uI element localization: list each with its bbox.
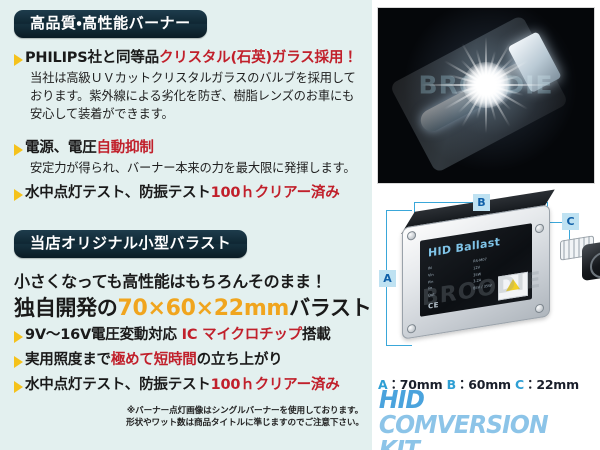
bullet-water-test-burner-heading: 水中点灯テスト、防振テスト100ｈクリアー済み — [25, 185, 340, 202]
bullet-fast-startup: 実用照度まで極めて短時間の立ち上がり — [14, 352, 282, 369]
ballast-dimension-highlight: 70×60×22mm — [118, 296, 290, 321]
section-badge-ballast: 当店オリジナル小型バラスト — [14, 230, 247, 258]
ballast-lead-line-2: 独自開発の70×60×22mmバラスト — [14, 292, 371, 322]
ballast-screw — [407, 231, 416, 241]
disclaimer-line-1: ※バーナー点灯画像はシングルバーナーを使用しております。 — [120, 405, 370, 417]
bullet-text-highlight: IC マイクロチップ — [182, 327, 302, 343]
bullet-water-test-ballast-heading: 水中点灯テスト、防振テスト100ｈクリアー済み — [25, 377, 340, 394]
bullet-philips-glass-body-line-2: おります。紫外線による劣化を防ぎ、樹脂レンズのお車にも — [30, 88, 354, 106]
ballast-screw — [407, 324, 416, 334]
dim-line-a-top — [386, 210, 412, 211]
section-badge-ballast-label: 当店オリジナル小型バラスト — [14, 230, 247, 258]
footer-banner-text: HID COMVERSION KIT — [379, 387, 593, 450]
ballast-lead-post: バラスト — [289, 296, 371, 320]
ballast-screw — [535, 303, 544, 313]
burner-product-photo: BROODIE — [378, 8, 594, 183]
bullet-text-highlight: クリスタル(石英)ガラス採用！ — [159, 50, 357, 66]
bullet-philips-glass-body-line-1: 当社は高級ＵＶカットクリスタルガラスのバルブを採用して — [30, 70, 356, 88]
bullet-voltage-control: 電源、電圧自動抑制 — [14, 140, 154, 157]
section-badge-burner-label: 高品質・高性能バーナー — [14, 10, 207, 38]
footer-product-type: COMVERSION KIT — [379, 410, 548, 450]
disclaimer-line-2: 形状やワット数は商品タイトルに準じますのでご注意下さい。 — [120, 417, 370, 429]
bullet-fast-startup-heading: 実用照度まで極めて短時間の立ち上がり — [25, 352, 282, 369]
arrow-bullet-icon — [14, 331, 23, 343]
bullet-text-pre: 水中点灯テスト、防振テスト — [25, 185, 211, 201]
ballast-device-graphic: HID Ballast INRS-M07 Vin12V Pin35W Iin3.… — [402, 204, 550, 345]
bullet-philips-glass-heading: PHILIPS社と同等品クリスタル(石英)ガラス採用！ — [25, 50, 357, 67]
ballast-dimension-diagram: HID Ballast INRS-M07 Vin12V Pin35W Iin3.… — [378, 196, 594, 368]
dim-marker-c: C — [562, 213, 579, 230]
ballast-connector — [560, 230, 600, 291]
bullet-ic-microchip: 9V〜16V電圧変動対応 IC マイクロチップ搭載 — [14, 327, 331, 344]
dim-line-a-bottom — [386, 345, 412, 346]
bullet-water-test-burner: 水中点灯テスト、防振テスト100ｈクリアー済み — [14, 185, 340, 202]
arrow-bullet-icon — [14, 381, 23, 393]
arrow-bullet-icon — [14, 189, 23, 201]
ballast-lead-pre: 独自開発の — [14, 296, 118, 320]
photo-watermark: BROODIE — [378, 71, 594, 100]
ballast-screw — [535, 223, 544, 233]
bullet-voltage-control-body-line-1: 安定力が得られ、バーナー本来の力を最大限に発揮します。 — [30, 160, 356, 178]
arrow-bullet-icon — [14, 54, 23, 66]
bullet-text-pre: 9V〜16V電圧変動対応 — [25, 327, 182, 343]
arrow-bullet-icon — [14, 356, 23, 368]
bullet-voltage-control-heading: 電源、電圧自動抑制 — [25, 140, 154, 157]
bullet-text-pre: 電源、電圧 — [25, 140, 97, 156]
bullet-text-pre: 水中点灯テスト、防振テスト — [25, 377, 211, 393]
bullet-text-highlight: 極めて短時間 — [111, 352, 197, 368]
bullet-text-highlight: 100ｈクリアー済み — [211, 185, 340, 201]
bullet-text-pre: 実用照度まで — [25, 352, 111, 368]
bullet-text-pre: PHILIPS社と同等品 — [25, 50, 159, 66]
bullet-philips-glass: PHILIPS社と同等品クリスタル(石英)ガラス採用！ — [14, 50, 357, 67]
bullet-ic-microchip-heading: 9V〜16V電圧変動対応 IC マイクロチップ搭載 — [25, 327, 331, 344]
bullet-text-post: の立ち上がり — [197, 352, 283, 368]
section-badge-burner: 高品質・高性能バーナー — [14, 10, 207, 38]
footer-banner: HID COMVERSION KIT — [372, 398, 600, 450]
bullet-philips-glass-body-line-3: 安心して装着ができます。 — [30, 106, 174, 124]
disclaimer-note: ※バーナー点灯画像はシングルバーナーを使用しております。 形状やワット数は商品タ… — [120, 405, 370, 430]
dim-marker-a: A — [379, 270, 396, 287]
arrow-bullet-icon — [14, 144, 23, 156]
advertisement-page: 高品質・高性能バーナー PHILIPS社と同等品クリスタル(石英)ガラス採用！ … — [0, 0, 600, 450]
bullet-water-test-ballast: 水中点灯テスト、防振テスト100ｈクリアー済み — [14, 377, 340, 394]
bullet-text-highlight: 100ｈクリアー済み — [211, 377, 340, 393]
dim-marker-b: B — [473, 194, 490, 211]
bullet-text-post: 搭載 — [302, 327, 331, 343]
left-content-panel: 高品質・高性能バーナー PHILIPS社と同等品クリスタル(石英)ガラス採用！ … — [0, 0, 372, 450]
ballast-lead-line-1: 小さくなっても高性能はもちろんそのまま！ — [14, 268, 326, 292]
bullet-text-highlight: 自動抑制 — [97, 140, 154, 156]
